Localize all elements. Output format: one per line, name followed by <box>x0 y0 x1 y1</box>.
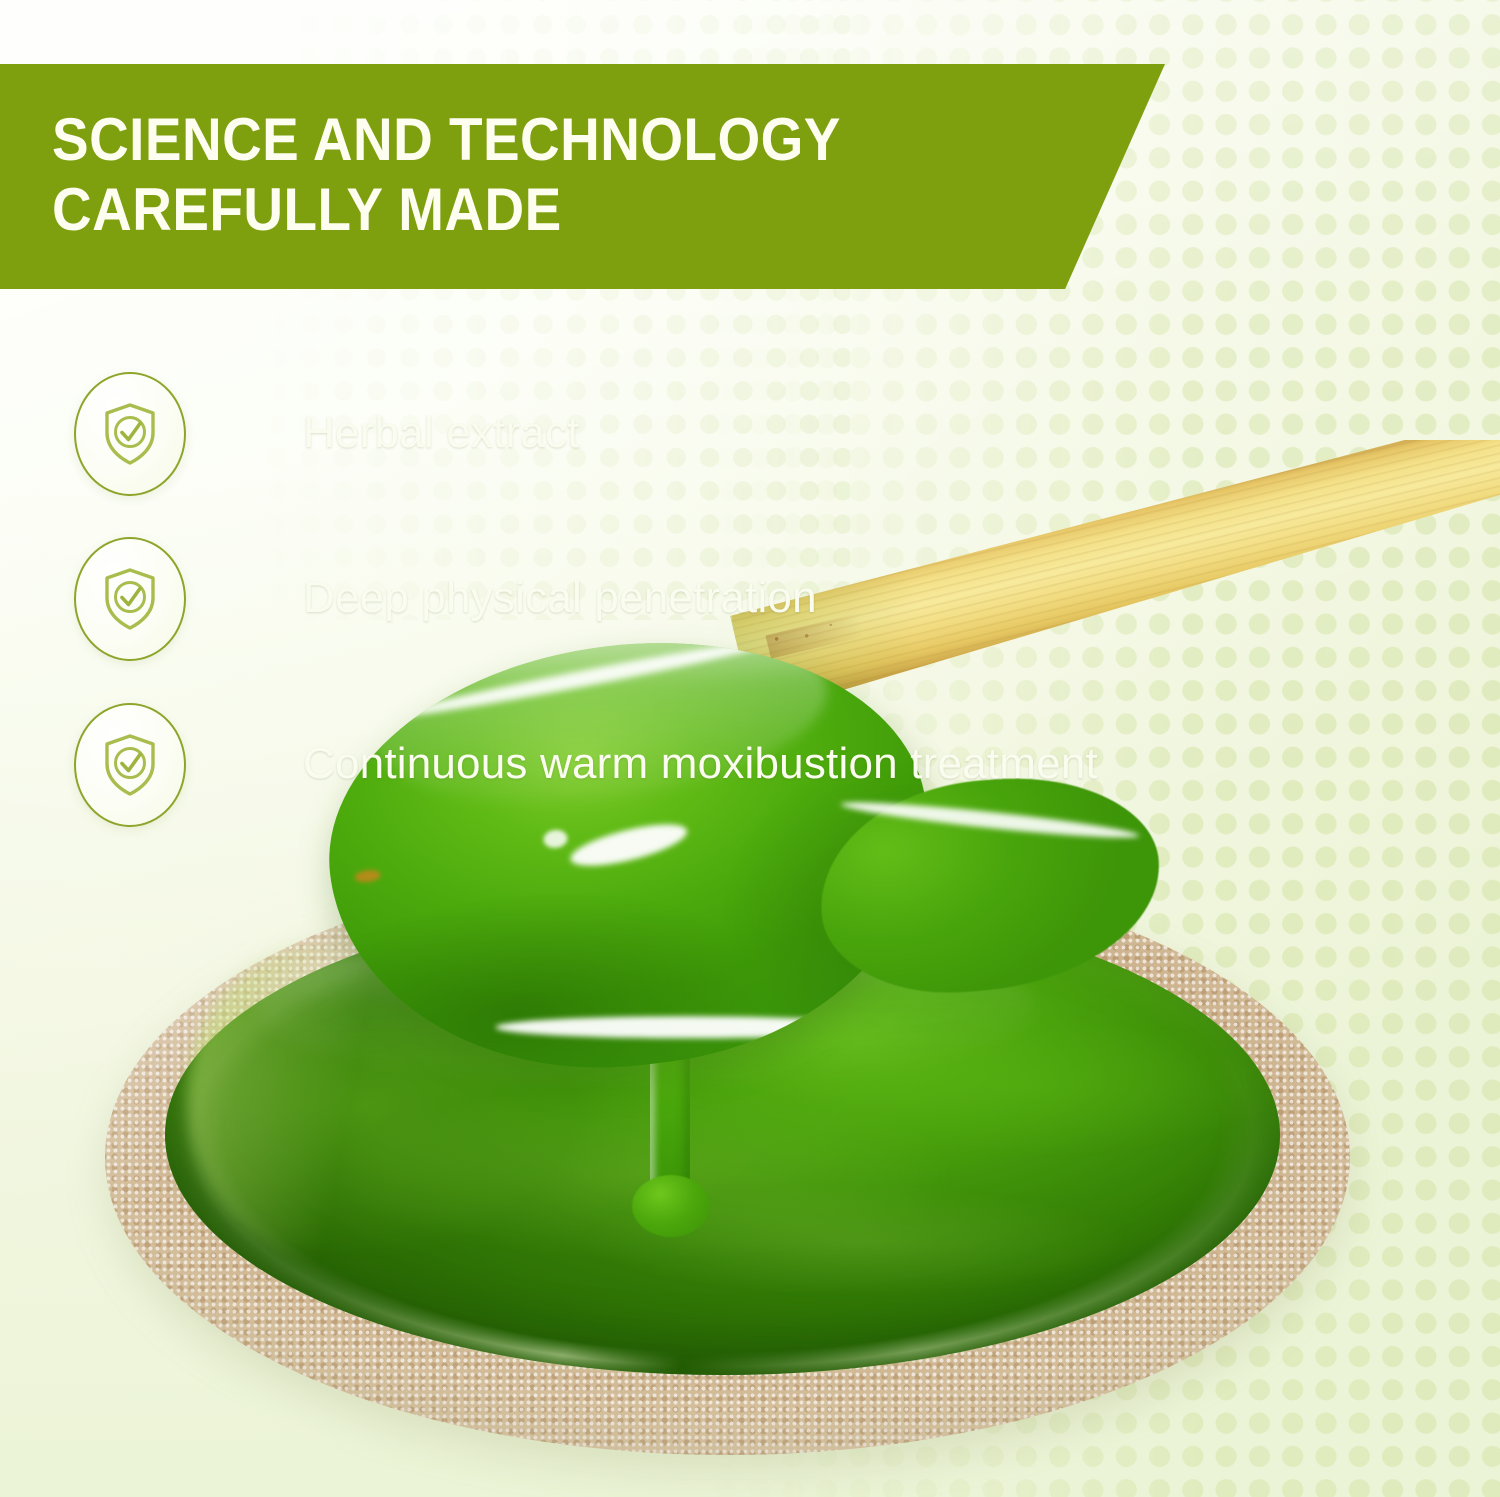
headline-banner: SCIENCE AND TECHNOLOGY CAREFULLY MADE <box>0 64 1165 289</box>
feature-badge-1 <box>74 372 186 496</box>
feature-row-herbal-extract: Herbal extract <box>195 387 895 479</box>
feature-label: Continuous warm moxibustion treatment <box>303 739 1098 789</box>
product-feature-graphic: SCIENCE AND TECHNOLOGY CAREFULLY MADE He… <box>0 0 1500 1497</box>
feature-row-moxibustion: Continuous warm moxibustion treatment <box>195 718 1175 810</box>
feature-badge-2 <box>74 537 186 661</box>
headline-line-2: CAREFULLY MADE <box>52 175 1070 245</box>
shield-check-icon <box>101 732 159 798</box>
feature-label: Herbal extract <box>303 408 580 458</box>
feature-badge-3 <box>74 703 186 827</box>
feature-label: Deep physical penetration <box>303 573 817 623</box>
headline-line-1: SCIENCE AND TECHNOLOGY <box>52 105 1070 175</box>
spoon-rim-highlight-bottom <box>495 1016 879 1038</box>
paste-drip-bulb <box>632 1175 710 1237</box>
feature-row-deep-penetration: Deep physical penetration <box>195 552 985 644</box>
shield-check-icon <box>101 401 159 467</box>
shield-check-icon <box>101 566 159 632</box>
